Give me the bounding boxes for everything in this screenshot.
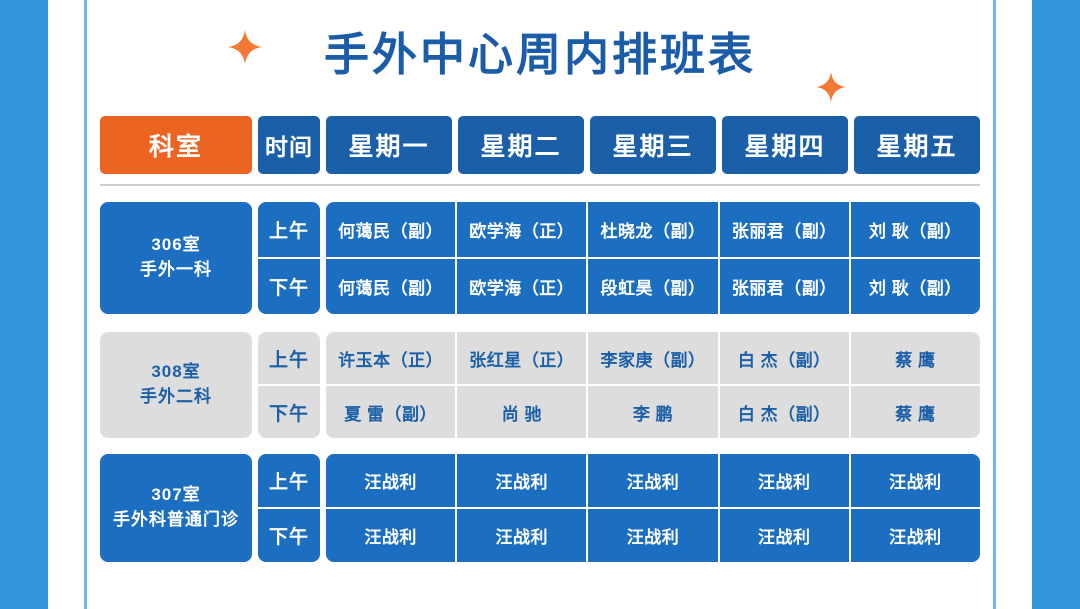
table-row: 夏 雷（副） 尚 驰 李 鹏 白 杰（副） 蔡 鹰 xyxy=(326,384,980,438)
dept-label-308: 308室 手外二科 xyxy=(100,332,252,438)
shift-cell: 夏 雷（副） xyxy=(326,386,455,438)
dept-name: 手外一科 xyxy=(140,258,212,283)
shift-cell: 李家庚（副） xyxy=(586,332,717,384)
shift-cell: 汪战利 xyxy=(718,454,849,507)
shift-cell: 汪战利 xyxy=(718,509,849,562)
shift-cell: 白 杰（副） xyxy=(718,386,849,438)
table-header-row: 科室 时间 星期一 星期二 星期三 星期四 星期五 xyxy=(100,116,980,174)
shift-cell: 李 鹏 xyxy=(586,386,717,438)
time-label-am: 上午 xyxy=(258,332,320,384)
schedule-table: 科室 时间 星期一 星期二 星期三 星期四 星期五 306室 手外一科 上午 下… xyxy=(100,116,980,562)
header-divider xyxy=(100,184,980,186)
shift-cell: 何蔼民（副） xyxy=(326,259,455,314)
schedule-grid-306: 何蔼民（副） 欧学海（正） 杜晓龙（副） 张丽君（副） 刘 耿（副） 何蔼民（副… xyxy=(326,202,980,314)
header-day-fri: 星期五 xyxy=(854,116,980,174)
schedule-grid-307: 汪战利 汪战利 汪战利 汪战利 汪战利 汪战利 汪战利 汪战利 汪战利 汪战利 xyxy=(326,454,980,562)
shift-cell: 汪战利 xyxy=(586,454,717,507)
table-row: 何蔼民（副） 欧学海（正） 段虹昊（副） 张丽君（副） 刘 耿（副） xyxy=(326,257,980,314)
shift-cell: 汪战利 xyxy=(326,454,455,507)
dept-room: 307室 xyxy=(151,483,200,508)
dept-label-306: 306室 手外一科 xyxy=(100,202,252,314)
right-edge-band xyxy=(1032,0,1080,609)
shift-cell: 许玉本（正） xyxy=(326,332,455,384)
table-row: 许玉本（正） 张红星（正） 李家庚（副） 白 杰（副） 蔡 鹰 xyxy=(326,332,980,384)
time-label-pm: 下午 xyxy=(258,507,320,562)
schedule-grid-308: 许玉本（正） 张红星（正） 李家庚（副） 白 杰（副） 蔡 鹰 夏 雷（副） 尚… xyxy=(326,332,980,438)
shift-cell: 欧学海（正） xyxy=(455,202,586,257)
header-dept: 科室 xyxy=(100,116,252,174)
shift-cell: 刘 耿（副） xyxy=(849,202,980,257)
time-column-308: 上午 下午 xyxy=(258,332,320,438)
shift-cell: 张丽君（副） xyxy=(718,202,849,257)
header-day-thu: 星期四 xyxy=(722,116,848,174)
shift-cell: 张丽君（副） xyxy=(718,259,849,314)
left-edge-band xyxy=(0,0,48,609)
header-day-mon: 星期一 xyxy=(326,116,452,174)
time-column-306: 上午 下午 xyxy=(258,202,320,314)
shift-cell: 汪战利 xyxy=(455,454,586,507)
time-label-pm: 下午 xyxy=(258,384,320,438)
header-day-tue: 星期二 xyxy=(458,116,584,174)
shift-cell: 汪战利 xyxy=(326,509,455,562)
table-row: 汪战利 汪战利 汪战利 汪战利 汪战利 xyxy=(326,454,980,507)
dept-block-308: 308室 手外二科 上午 下午 许玉本（正） 张红星（正） 李家庚（副） 白 杰… xyxy=(100,332,980,438)
dept-name: 手外科普通门诊 xyxy=(113,508,239,533)
shift-cell: 刘 耿（副） xyxy=(849,259,980,314)
right-vertical-rule xyxy=(993,0,996,609)
time-label-am: 上午 xyxy=(258,202,320,257)
shift-cell: 张红星（正） xyxy=(455,332,586,384)
shift-cell: 杜晓龙（副） xyxy=(586,202,717,257)
shift-cell: 蔡 鹰 xyxy=(849,386,980,438)
dept-name: 手外二科 xyxy=(140,385,212,410)
title-area: 手外中心周内排班表 xyxy=(100,14,980,106)
time-column-307: 上午 下午 xyxy=(258,454,320,562)
dept-label-307: 307室 手外科普通门诊 xyxy=(100,454,252,562)
table-row: 汪战利 汪战利 汪战利 汪战利 汪战利 xyxy=(326,507,980,562)
shift-cell: 白 杰（副） xyxy=(718,332,849,384)
shift-cell: 尚 驰 xyxy=(455,386,586,438)
time-label-am: 上午 xyxy=(258,454,320,507)
dept-block-306: 306室 手外一科 上午 下午 何蔼民（副） 欧学海（正） 杜晓龙（副） 张丽君… xyxy=(100,202,980,314)
table-row: 何蔼民（副） 欧学海（正） 杜晓龙（副） 张丽君（副） 刘 耿（副） xyxy=(326,202,980,257)
shift-cell: 何蔼民（副） xyxy=(326,202,455,257)
dept-room: 308室 xyxy=(151,360,200,385)
shift-cell: 汪战利 xyxy=(849,454,980,507)
header-day-wed: 星期三 xyxy=(590,116,716,174)
left-vertical-rule xyxy=(84,0,87,609)
shift-cell: 蔡 鹰 xyxy=(849,332,980,384)
time-label-pm: 下午 xyxy=(258,257,320,314)
dept-room: 306室 xyxy=(151,233,200,258)
shift-cell: 汪战利 xyxy=(455,509,586,562)
header-time: 时间 xyxy=(258,116,320,174)
page-title: 手外中心周内排班表 xyxy=(100,24,980,86)
shift-cell: 欧学海（正） xyxy=(455,259,586,314)
shift-cell: 段虹昊（副） xyxy=(586,259,717,314)
dept-block-307: 307室 手外科普通门诊 上午 下午 汪战利 汪战利 汪战利 汪战利 汪战利 汪… xyxy=(100,454,980,562)
shift-cell: 汪战利 xyxy=(586,509,717,562)
shift-cell: 汪战利 xyxy=(849,509,980,562)
